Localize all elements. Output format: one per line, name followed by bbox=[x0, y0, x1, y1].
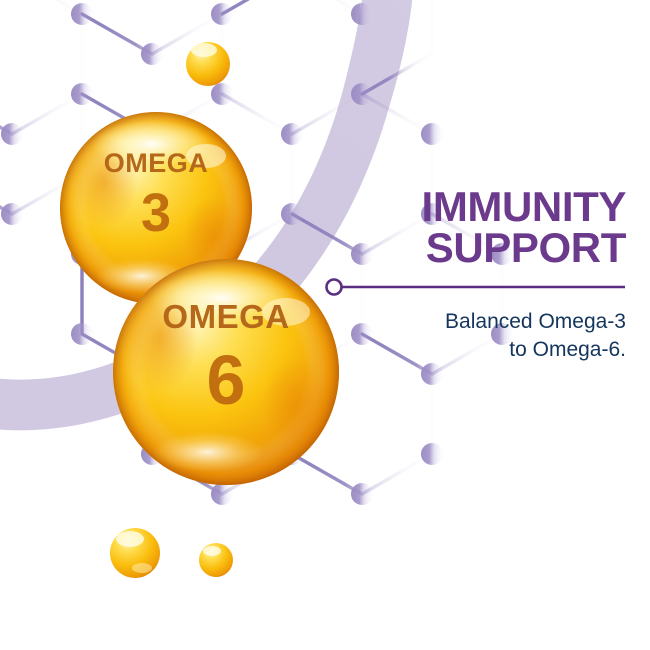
circle-tipped-divider bbox=[324, 277, 626, 297]
divider-circle-icon bbox=[327, 280, 342, 295]
subtitle-line-2: to Omega-6. bbox=[326, 336, 626, 364]
headline-line-2: SUPPORT bbox=[330, 227, 626, 268]
subtitle-block: Balanced Omega-3 to Omega-6. bbox=[326, 308, 626, 364]
droplet-top bbox=[186, 42, 230, 86]
omega-6-capsule bbox=[113, 259, 339, 485]
droplet-bottom-left bbox=[110, 528, 160, 578]
headline-block: IMMUNITY SUPPORT bbox=[330, 186, 626, 268]
promo-banner: OMEGA 3 OMEGA 6 IMMUNITY SUPPORT Balance… bbox=[0, 0, 650, 650]
droplet-bottom-right bbox=[199, 543, 233, 577]
headline-line-1: IMMUNITY bbox=[330, 186, 626, 227]
subtitle-line-1: Balanced Omega-3 bbox=[326, 308, 626, 336]
